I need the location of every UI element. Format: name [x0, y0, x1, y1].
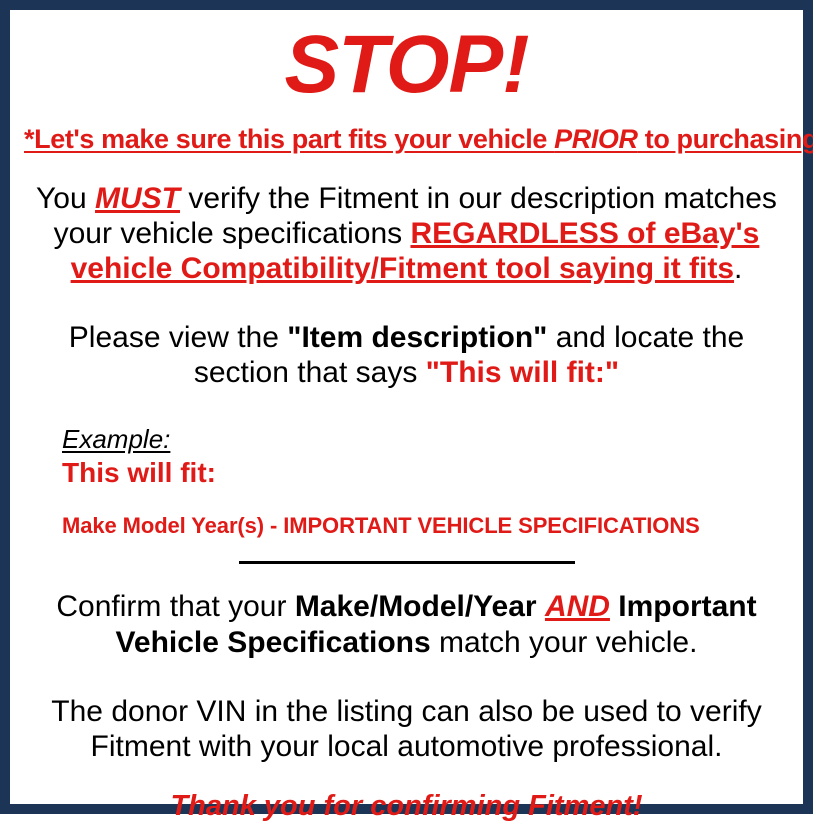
confirm-space-1 [537, 590, 545, 623]
paragraph-confirm-match: Confirm that your Make/Model/Year AND Im… [24, 589, 789, 659]
example-spec-line: Make Model Year(s) - IMPORTANT VEHICLE S… [62, 513, 789, 539]
subtitle-banner: *Let's make sure this part fits your veh… [24, 124, 789, 155]
and-emphasis: AND [545, 590, 610, 623]
paragraph-donor-vin: The donor VIN in the listing can also be… [24, 694, 789, 764]
fitment-notice-card: STOP! *Let's make sure this part fits yo… [0, 0, 813, 814]
verify-text-3: . [734, 252, 742, 285]
confirm-text-2: match your vehicle. [431, 626, 698, 659]
example-block: Example: This will fit: Make Model Year(… [24, 424, 789, 539]
subtitle-text-before: *Let's make sure this part fits your veh… [24, 124, 554, 154]
thanks-line: Thank you for confirming Fitment! [24, 790, 789, 823]
divider-rule [239, 561, 575, 564]
paragraph-verify-fitment: You MUST verify the Fitment in our descr… [24, 181, 789, 286]
must-emphasis: MUST [95, 182, 180, 215]
confirm-text-1: Confirm that your [56, 590, 294, 623]
notice-content: STOP! *Let's make sure this part fits yo… [10, 10, 803, 804]
verify-text-1: You [36, 182, 95, 215]
subtitle-prior-emphasis: PRIOR [554, 124, 638, 154]
stop-headline: STOP! [24, 10, 789, 108]
divider [24, 561, 789, 575]
example-label: Example: [62, 424, 170, 455]
this-will-fit-quote: "This will fit:" [426, 356, 619, 389]
make-model-year-label: Make/Model/Year [295, 590, 537, 623]
example-this-will-fit: This will fit: [62, 457, 789, 489]
example-label-row: Example: [62, 424, 789, 455]
subtitle-text-after: to purchasing* [638, 124, 813, 154]
paragraph-item-description: Please view the "Item description" and l… [24, 320, 789, 390]
item-description-label: "Item description" [287, 321, 547, 354]
view-text-1: Please view the [69, 321, 287, 354]
